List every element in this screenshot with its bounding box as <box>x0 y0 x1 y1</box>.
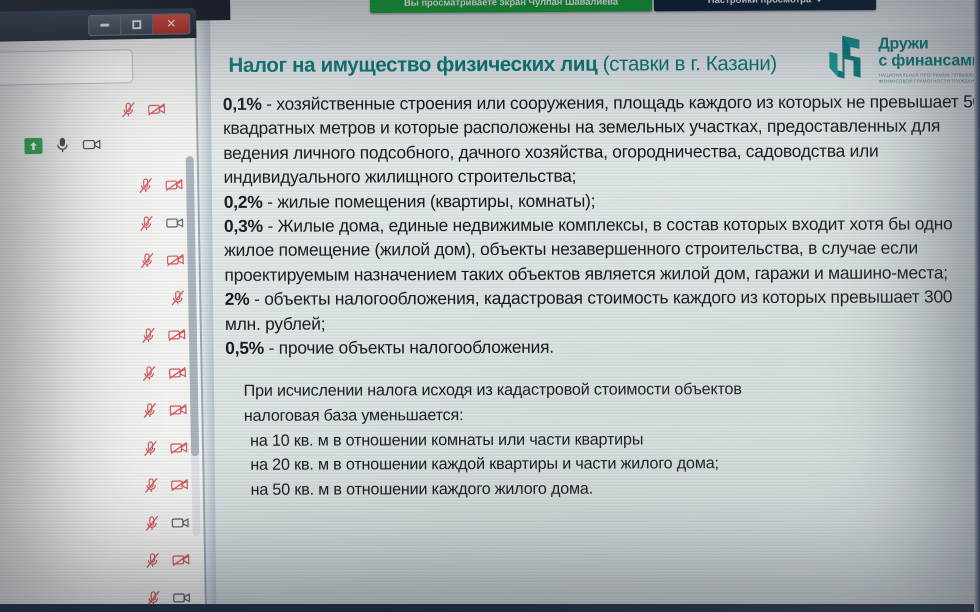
list-item[interactable] <box>0 541 207 582</box>
camera-on-icon[interactable] <box>166 216 184 229</box>
rate-text: - жилые помещения (квартиры, комнаты); <box>263 190 596 211</box>
mic-muted-icon[interactable] <box>141 327 156 344</box>
list-item[interactable] <box>0 241 203 282</box>
self-participant-row[interactable]: атор, я) <box>0 100 178 122</box>
rate-text: - объекты налогообложения, кадастровая с… <box>225 287 953 334</box>
logo-line-1: Дружи <box>878 35 980 52</box>
rate-text: - хозяйственные строения или сооружения,… <box>223 91 980 187</box>
rate-text: - Жилые дома, единые недвижимые комплекс… <box>224 213 952 284</box>
camera-off-icon[interactable] <box>169 366 187 379</box>
rate-text: - прочие объекты налогообложения. <box>264 337 554 358</box>
list-item[interactable] <box>0 203 202 244</box>
rate-percent: 0,5% <box>225 338 264 358</box>
list-item[interactable] <box>0 166 202 207</box>
maximize-button[interactable] <box>121 14 153 34</box>
participants-window: ✕ атор, я) <box>0 8 207 612</box>
minimize-icon <box>100 23 109 26</box>
note-line: налоговая база уменьшается: <box>244 401 980 428</box>
screen-share-bar: Вы просматриваете экран Чулпан Шавалиева… <box>214 0 980 34</box>
camera-off-icon[interactable] <box>168 329 186 342</box>
mic-muted-icon[interactable] <box>143 440 158 457</box>
logo-line-2: с финансами <box>878 52 980 69</box>
rate-item: 0,3% - Жилые дома, единые недвижимые ком… <box>220 211 980 287</box>
camera-off-icon[interactable] <box>165 179 183 192</box>
mic-muted-icon[interactable] <box>170 289 185 306</box>
list-item[interactable] <box>0 503 207 544</box>
chevron-down-icon <box>816 0 822 2</box>
mic-muted-icon[interactable] <box>144 477 159 494</box>
mic-muted-icon[interactable] <box>145 552 160 569</box>
list-item[interactable] <box>0 466 207 507</box>
list-item[interactable] <box>0 353 205 394</box>
screen-share-notice: Вы просматриваете экран Чулпан Шавалиева <box>370 0 652 13</box>
share-screen-icon[interactable] <box>24 137 42 153</box>
list-item[interactable] <box>0 278 204 319</box>
window-controls: ✕ <box>88 13 190 36</box>
photographed-screen: Дружи с финансами НАЦИОНАЛЬНАЯ ПРОГРАММА… <box>0 0 980 612</box>
deduction-note: При исчислении налога исходя из кадастро… <box>221 377 980 503</box>
camera-off-icon[interactable] <box>169 404 187 417</box>
slide-title-parenthetical: (ставки в г. Казани) <box>597 52 777 76</box>
window-titlebar: ✕ <box>0 8 197 42</box>
rate-item: 0,1% - хозяйственные строения или сооруж… <box>219 89 980 189</box>
camera-off-icon[interactable] <box>170 441 188 454</box>
note-line: на 50 кв. м в отношении каждого жилого д… <box>244 475 980 502</box>
monitor-bezel-bottom <box>0 604 980 612</box>
note-line: на 20 кв. м в отношении каждой квартиры … <box>244 451 980 478</box>
logo-subtitle: НАЦИОНАЛЬНАЯ ПРОГРАММА ПОВЫШЕНИЯ ФИНАНСО… <box>879 72 980 84</box>
note-line: При исчислении налога исходя из кадастро… <box>243 377 980 404</box>
view-settings-label: Настройки просмотра <box>708 0 812 6</box>
camera-off-icon[interactable] <box>171 479 189 492</box>
maximize-icon <box>132 20 141 29</box>
camera-icon[interactable] <box>82 138 101 151</box>
mic-icon[interactable] <box>56 136 68 153</box>
close-button[interactable]: ✕ <box>153 14 189 34</box>
monitor-bezel-right <box>974 0 980 612</box>
search-input[interactable] <box>0 49 133 87</box>
rate-item: 0,2% - жилые помещения (квартиры, комнат… <box>220 187 980 214</box>
rate-percent: 0,3% <box>224 216 263 236</box>
self-controls-toolbar <box>24 136 101 154</box>
camera-off-icon[interactable] <box>166 254 184 267</box>
list-item[interactable] <box>0 391 206 432</box>
view-settings-button[interactable]: Настройки просмотра <box>654 0 876 11</box>
mic-muted-icon[interactable] <box>139 252 154 269</box>
mic-muted-icon[interactable] <box>141 365 156 382</box>
note-line: на 10 кв. м в отношении комнаты или част… <box>244 426 980 453</box>
mic-muted-icon[interactable] <box>138 177 153 194</box>
camera-on-icon[interactable] <box>173 591 191 604</box>
minimize-button[interactable] <box>89 15 121 35</box>
list-item[interactable] <box>0 428 206 469</box>
screen-share-notice-label: Вы просматриваете экран Чулпан Шавалиева <box>404 0 618 8</box>
camera-off-icon[interactable] <box>172 553 190 566</box>
participants-panel: атор, я) <box>0 38 207 612</box>
rate-percent: 0,2% <box>224 191 263 211</box>
list-item[interactable] <box>0 316 204 357</box>
slide-title: Налог на имущество физических лиц (ставк… <box>228 52 858 78</box>
slide-title-main: Налог на имущество физических лиц <box>228 53 597 77</box>
close-icon: ✕ <box>166 17 176 29</box>
mic-muted-icon[interactable] <box>139 215 154 232</box>
presentation-slide: Дружи с финансами НАЦИОНАЛЬНАЯ ПРОГРАММА… <box>206 15 980 612</box>
rate-percent: 0,1% <box>223 94 262 114</box>
camera-off-icon[interactable] <box>148 103 166 116</box>
participants-list[interactable] <box>0 166 207 612</box>
rate-percent: 2% <box>225 289 250 309</box>
mic-muted-icon[interactable] <box>144 515 159 532</box>
rate-item: 2% - объекты налогообложения, кадастрова… <box>221 285 980 336</box>
camera-on-icon[interactable] <box>171 516 189 529</box>
slide-body: 0,1% - хозяйственные строения или сооруж… <box>219 89 980 502</box>
mic-muted-icon[interactable] <box>142 402 157 419</box>
rate-item: 0,5% - прочие объекты налогообложения. <box>221 333 980 360</box>
mic-muted-icon[interactable] <box>121 101 136 118</box>
